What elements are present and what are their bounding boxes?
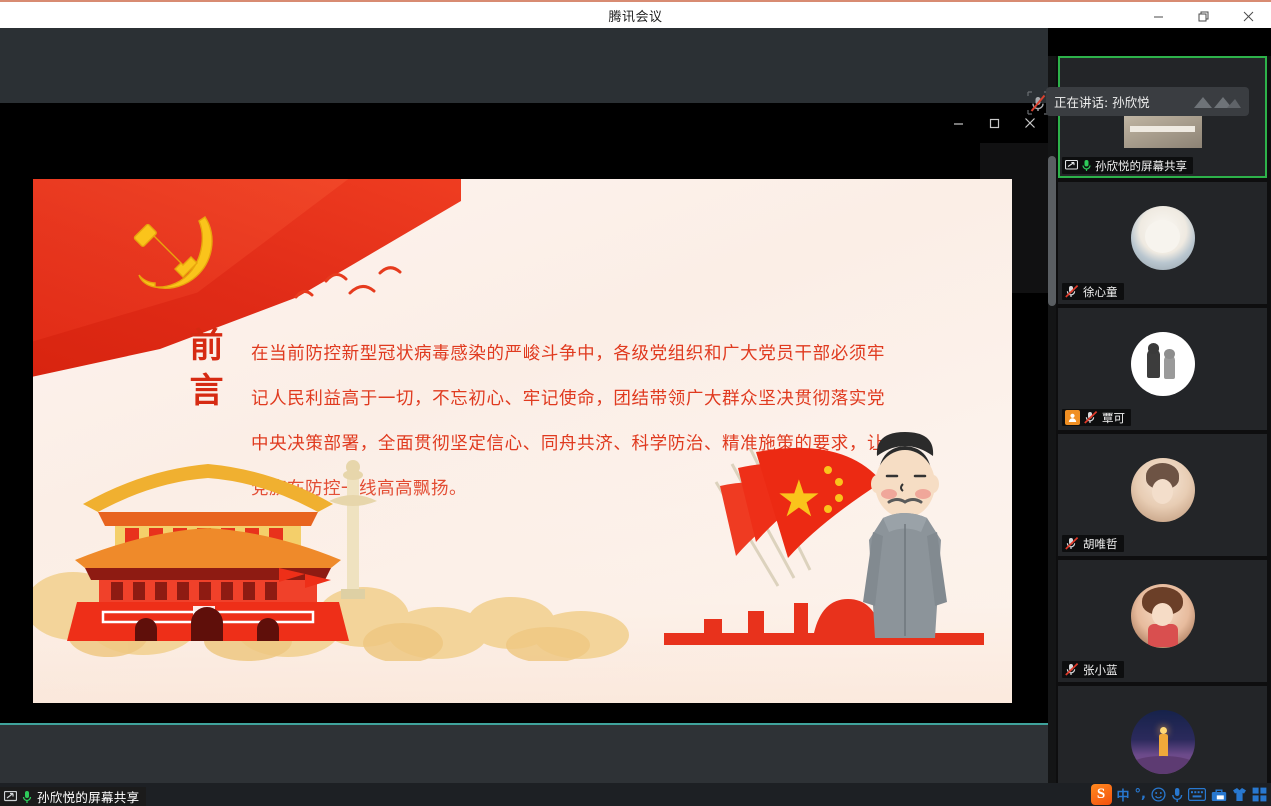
participant-tile[interactable]: 孙欣悦的屏幕共享: [1058, 56, 1267, 178]
avatar: [1131, 206, 1195, 270]
maximize-button[interactable]: [1181, 2, 1226, 30]
participant-name: 覃可: [1102, 410, 1125, 426]
mic-muted-icon: [1065, 537, 1079, 550]
ime-skin-icon[interactable]: [1232, 784, 1247, 805]
ime-emoji-icon[interactable]: [1151, 784, 1166, 805]
cartoon-elder-figure: [837, 426, 972, 641]
host-badge: [1065, 410, 1080, 425]
participant-tile-list: 孙欣悦的屏幕共享 徐心童: [1056, 56, 1271, 806]
mic-muted-icon: [1065, 663, 1079, 676]
meeting-body: 前言 在当前防控新型冠状病毒感染的严峻斗争中，各级党组织和广大党员干部必须牢记人…: [0, 28, 1271, 806]
mic-muted-icon: [1084, 411, 1098, 424]
participant-nameplate: 孙欣悦的屏幕共享: [1062, 157, 1193, 174]
ime-menu-icon[interactable]: [1252, 784, 1267, 805]
participant-nameplate: 胡唯哲: [1062, 535, 1124, 552]
avatar: [1131, 332, 1195, 396]
speaking-tooltip-text: 正在讲话: 孙欣悦: [1054, 92, 1150, 111]
participant-panel: 孙欣悦的屏幕共享 徐心童: [1048, 56, 1271, 806]
participant-nameplate: 覃可: [1062, 409, 1131, 426]
ime-toolbox-icon[interactable]: [1211, 784, 1227, 805]
avatar: [1131, 584, 1195, 648]
shared-presentation-window: 前言 在当前防控新型冠状病毒感染的严峻斗争中，各级党组织和广大党员干部必须牢记人…: [0, 103, 1048, 723]
shared-view-top-band: [0, 28, 1048, 103]
participant-name: 胡唯哲: [1083, 536, 1118, 552]
window-titlebar: 腾讯会议: [0, 0, 1271, 28]
host-person-icon: [1068, 413, 1077, 422]
mic-on-icon: [22, 790, 32, 804]
window-controls: [1136, 2, 1271, 30]
hammer-and-sickle-icon: [121, 207, 231, 307]
speaking-tooltip: 正在讲话: 孙欣悦: [1046, 87, 1249, 116]
participant-scrollbar-track[interactable]: [1048, 56, 1056, 806]
ppt-minimize-button[interactable]: [940, 108, 976, 138]
flying-birds-icon: [288, 259, 418, 309]
participant-tile[interactable]: 张小蓝: [1058, 560, 1267, 682]
window-title: 腾讯会议: [608, 6, 662, 25]
mic-on-icon: [1082, 159, 1091, 172]
screen-share-status-badge: 孙欣悦的屏幕共享: [0, 787, 146, 806]
minimize-button[interactable]: [1136, 2, 1181, 30]
presentation-slide: 前言 在当前防控新型冠状病毒感染的严峻斗争中，各级党组织和广大党员干部必须牢记人…: [33, 179, 1012, 703]
mic-muted-icon: [1065, 285, 1079, 298]
participant-scrollbar-thumb[interactable]: [1048, 156, 1056, 306]
ime-punctuation-mode[interactable]: °,: [1135, 784, 1146, 805]
shared-window-titlebar: [0, 103, 1048, 143]
screen-share-icon: [4, 791, 17, 803]
participant-tile[interactable]: 胡唯哲: [1058, 434, 1267, 556]
ime-chinese-mode-label: 中: [1117, 785, 1130, 804]
ime-chinese-mode[interactable]: 中: [1117, 784, 1130, 805]
sogou-ime-logo[interactable]: S: [1091, 784, 1112, 805]
huabiao-column-illustration: [323, 455, 383, 605]
screen-share-icon: [1065, 160, 1078, 171]
participant-nameplate: 徐心童: [1062, 283, 1124, 300]
avatar: [1131, 458, 1195, 522]
ime-voice-input-icon[interactable]: [1171, 784, 1183, 805]
participant-name: 张小蓝: [1083, 662, 1118, 678]
sound-wave-icon: [1193, 94, 1241, 110]
ppt-maximize-button[interactable]: [976, 108, 1012, 138]
sogou-ime-logo-label: S: [1097, 786, 1105, 803]
participant-name: 孙欣悦的屏幕共享: [1095, 158, 1187, 174]
screen-share-label: 孙欣悦的屏幕共享: [37, 787, 139, 806]
ime-soft-keyboard-icon[interactable]: [1188, 784, 1206, 805]
participant-tile[interactable]: 徐心童: [1058, 182, 1267, 304]
slide-section-label: 前言: [185, 324, 229, 414]
participant-name: 徐心童: [1083, 284, 1118, 300]
tencent-meeting-window: 腾讯会议: [0, 0, 1271, 806]
system-tray: S 中 °,: [1091, 784, 1267, 805]
participant-nameplate: 张小蓝: [1062, 661, 1124, 678]
participant-tile[interactable]: 覃可: [1058, 308, 1267, 430]
taskbar: S 中 °,: [0, 783, 1271, 806]
avatar: [1131, 710, 1195, 774]
shared-screen-stage: 前言 在当前防控新型冠状病毒感染的严峻斗争中，各级党组织和广大党员干部必须牢记人…: [0, 103, 1048, 723]
ime-punctuation-mode-label: °,: [1135, 787, 1146, 802]
close-button[interactable]: [1226, 2, 1271, 30]
